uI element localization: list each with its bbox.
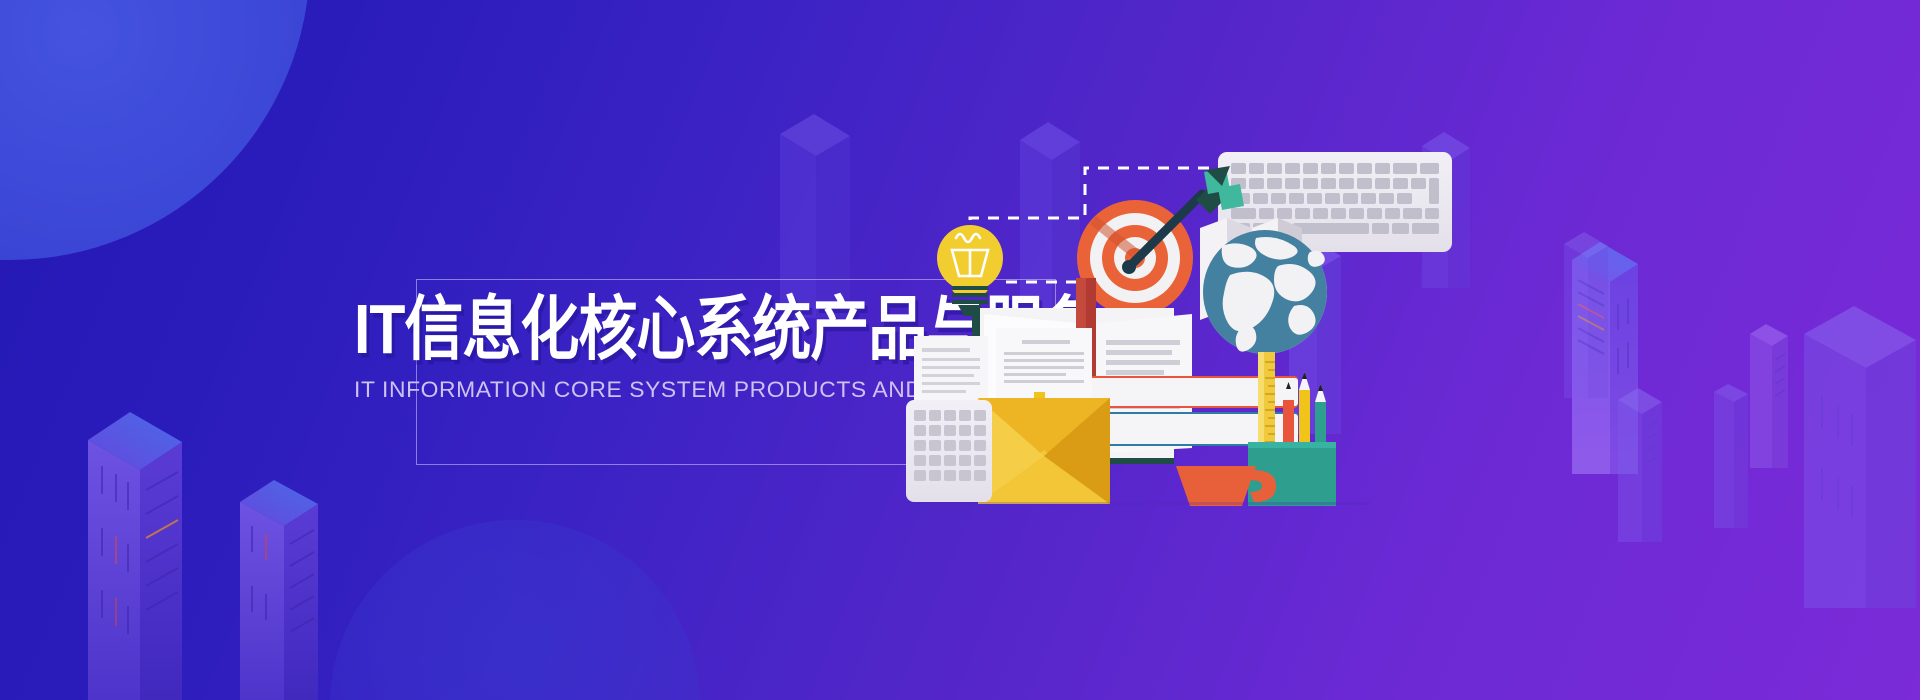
building-left-small	[222, 468, 372, 700]
building-right-small	[1744, 318, 1824, 468]
lightbulb-icon	[937, 225, 1003, 316]
background-circle-bottom-left	[330, 520, 700, 700]
envelope-icon	[978, 398, 1110, 504]
banner-hero: IT信息化核心系统产品与服务 IT INFORMATION CORE SYSTE…	[0, 0, 1920, 700]
globe-icon	[1203, 230, 1327, 354]
building-bottom-a	[1708, 378, 1788, 528]
background-circle-top-left	[0, 0, 310, 260]
it-workspace-illustration	[900, 110, 1600, 570]
building-bottom-b	[1612, 382, 1702, 542]
building-left-large	[60, 398, 260, 700]
building-right-big	[1792, 288, 1920, 608]
keyboard-icon-bottom	[906, 400, 992, 502]
